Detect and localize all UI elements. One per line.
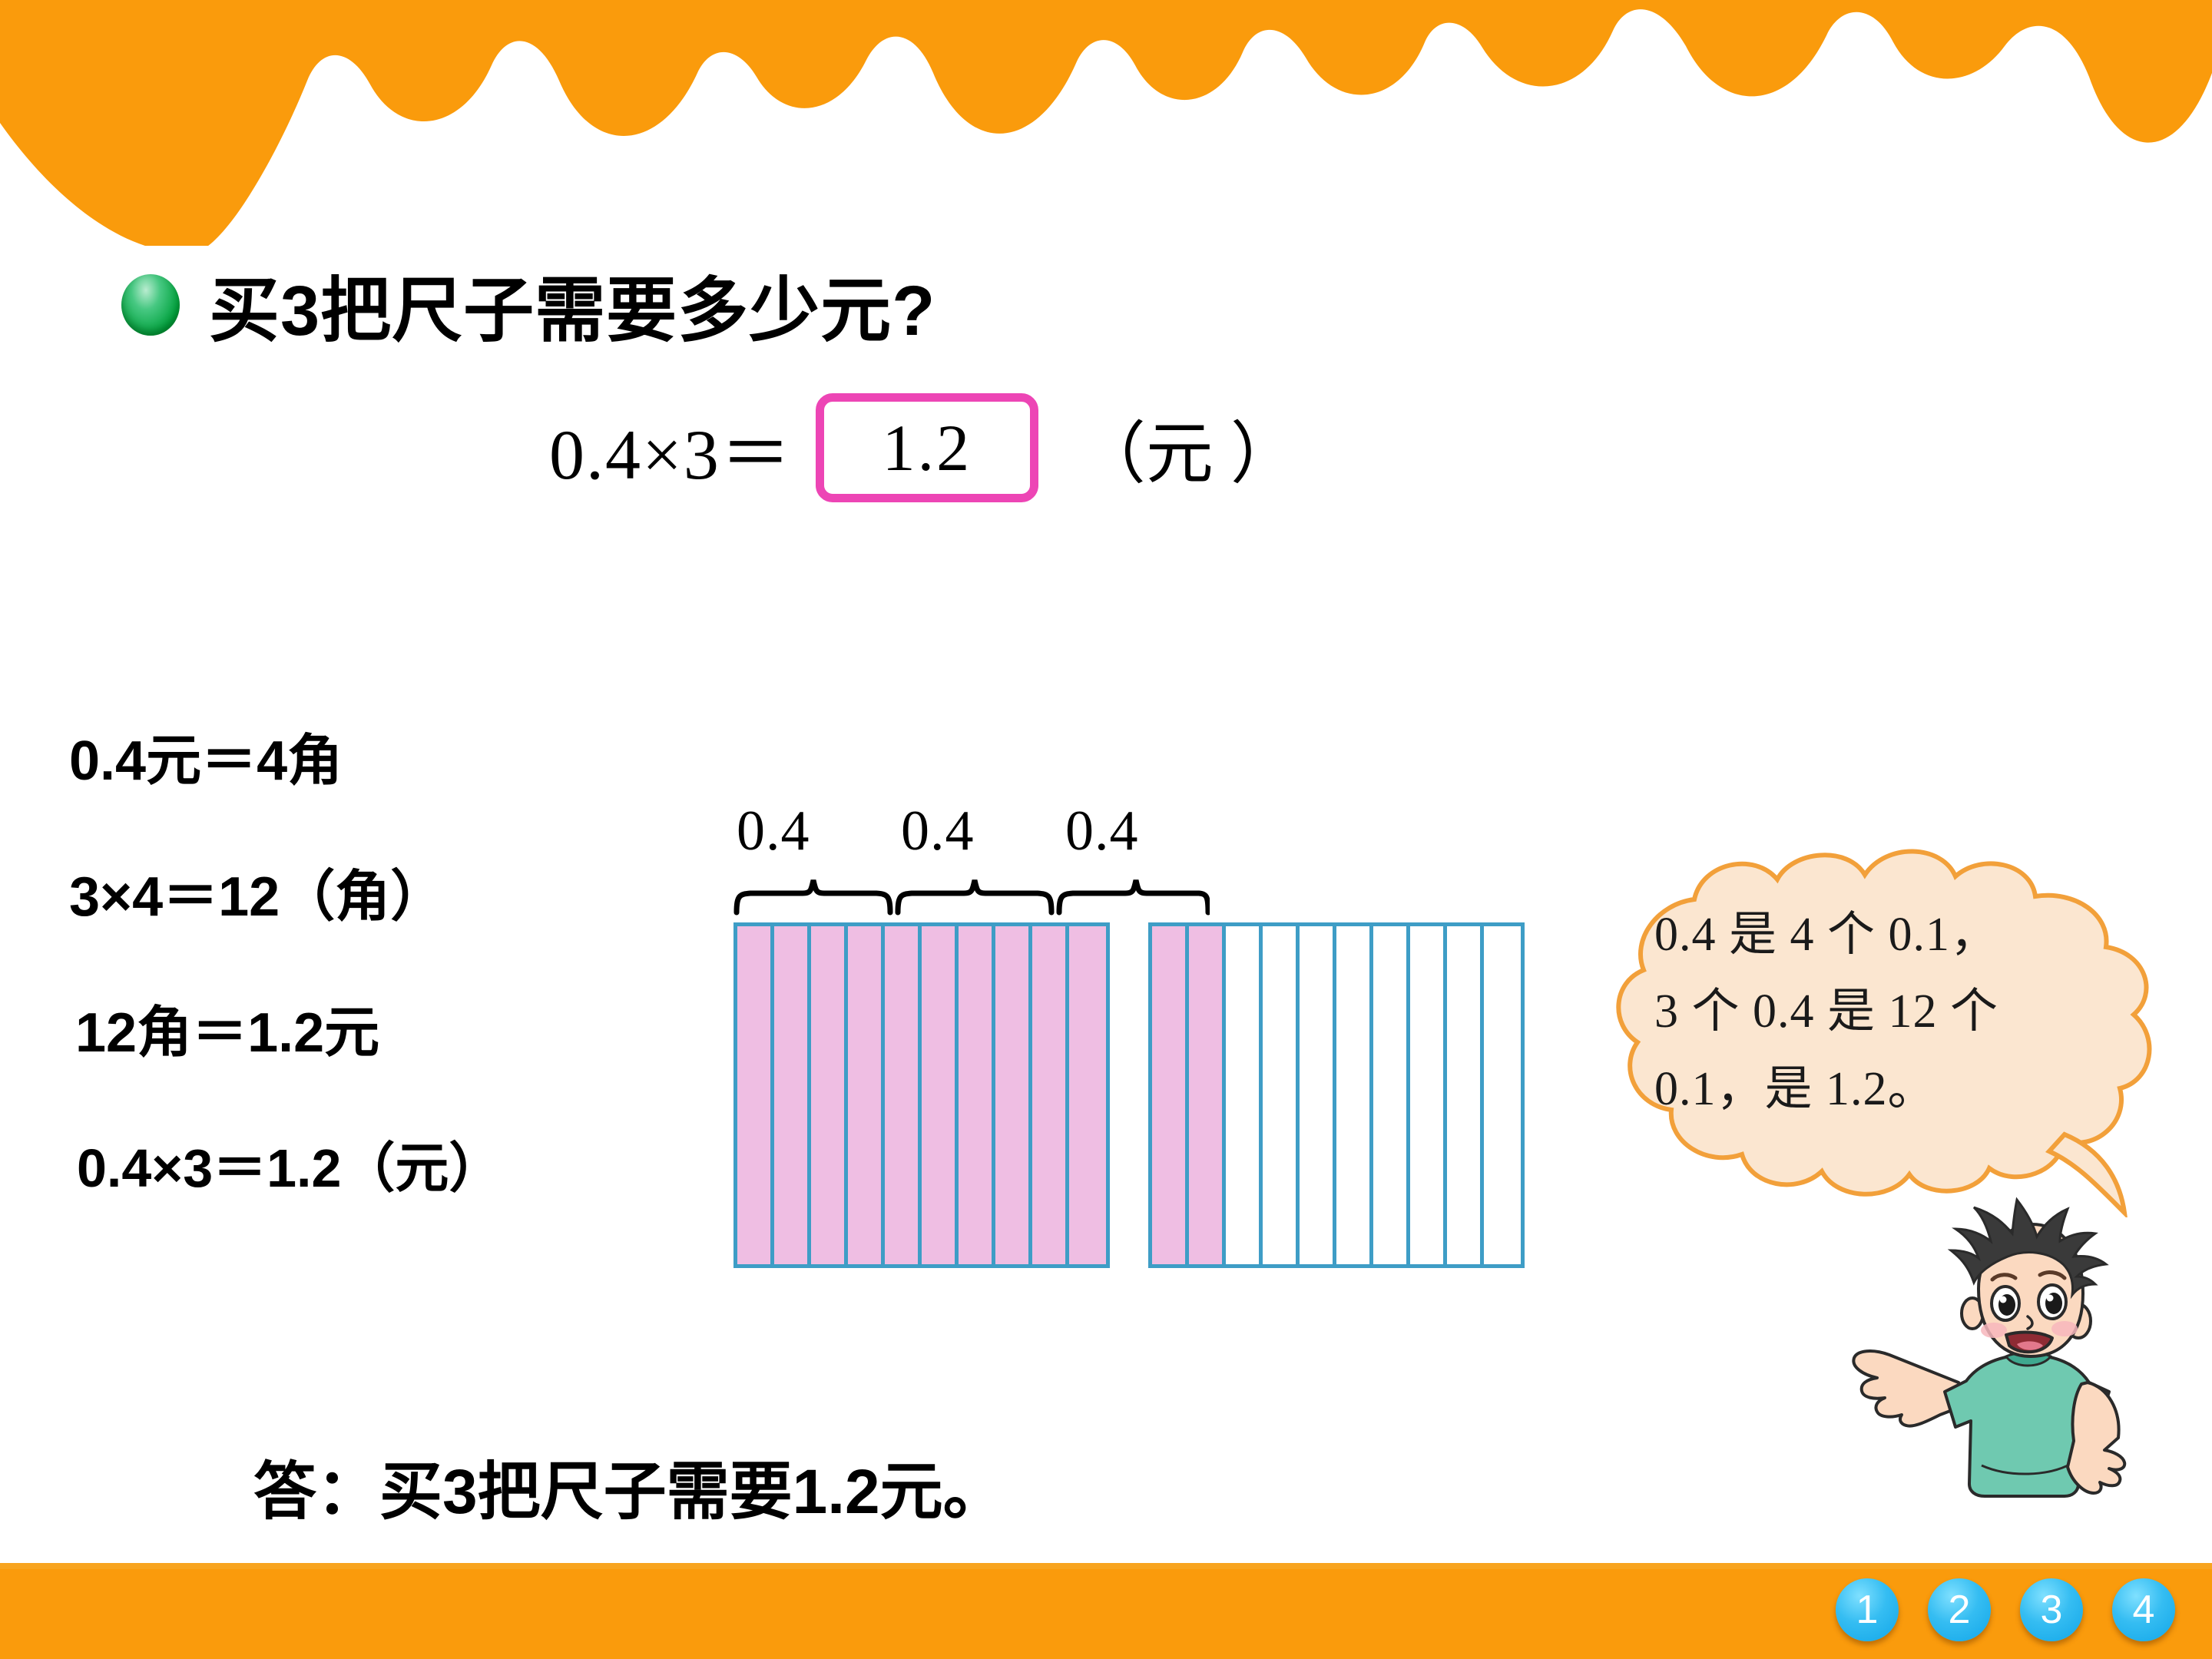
hint-text: 0.4 是 4 个 0.1， 3 个 0.4 是 12 个 0.1，是 1.2。 (1654, 896, 2131, 1128)
brace-2 (898, 880, 1051, 912)
solution-step: 12角＝1.2元 (75, 1005, 714, 1061)
boy-eye-glint-right (2047, 1295, 2054, 1302)
hint-line: 3 个 0.4 是 12 个 (1654, 973, 2131, 1050)
page-nav-button-3[interactable]: 3 (2020, 1578, 2083, 1641)
hint-line: 0.4 是 4 个 0.1， (1654, 896, 2131, 973)
brace-label: 0.4 (901, 799, 975, 864)
strip-cell-filled (885, 926, 922, 1264)
top-decorative-banner (0, 0, 2212, 246)
strip-cell-empty (1263, 926, 1300, 1264)
solution-step: 0.4元＝4角 (69, 733, 714, 789)
equation-left-expression: 0.4×3＝ (549, 397, 793, 499)
strip-cell-filled (811, 926, 848, 1264)
hint-line: 0.1，是 1.2。 (1654, 1051, 2131, 1128)
brace-3 (1059, 880, 1208, 912)
group-braces (733, 868, 1210, 916)
main-equation-row: 0.4×3＝ 1.2 （元 ） (549, 393, 1298, 502)
strip-cell-filled (1189, 926, 1226, 1264)
strip-cell-filled (1152, 926, 1189, 1264)
solution-step: 0.4×3＝1.2（元） (77, 1141, 714, 1195)
strip-cell-filled (737, 926, 774, 1264)
page-nav-button-2[interactable]: 2 (1928, 1578, 1991, 1641)
strip-cell-empty (1373, 926, 1410, 1264)
equation-unit-label: （元 ） (1078, 399, 1298, 497)
strip-cell-filled (848, 926, 885, 1264)
strip-block-2 (1148, 922, 1525, 1268)
strip-cell-filled (774, 926, 811, 1264)
strip-cell-empty (1336, 926, 1373, 1264)
strip-cell-empty (1226, 926, 1263, 1264)
brace-label: 0.4 (737, 799, 810, 864)
strip-cell-empty (1300, 926, 1336, 1264)
page-navigation[interactable]: 1 2 3 4 (1836, 1578, 2175, 1641)
strip-cell-filled (1032, 926, 1069, 1264)
banner-shape (0, 0, 2212, 246)
answer-input-box[interactable]: 1.2 (816, 393, 1038, 502)
page-nav-button-4[interactable]: 4 (2112, 1578, 2175, 1641)
boy-cheek-right (2051, 1321, 2078, 1336)
final-answer-text: 答：买3把尺子需要1.2元。 (253, 1440, 1006, 1532)
decimal-strip-diagram: 0.4 0.4 0.4 (733, 799, 1525, 1268)
page-title: 买3把尺子需要多少元? (209, 253, 935, 356)
green-sphere-bullet-icon (121, 274, 180, 336)
strip-cell-empty (1484, 926, 1521, 1264)
page-nav-button-1[interactable]: 1 (1836, 1578, 1899, 1641)
bottom-bar-highlight (0, 1563, 2212, 1569)
strip-blocks-container (733, 922, 1525, 1268)
boy-cheek-left (1981, 1323, 2007, 1338)
solution-steps-list: 0.4元＝4角 3×4＝12（角） 12角＝1.2元 0.4×3＝1.2（元） (69, 733, 714, 1195)
solution-step: 3×4＝12（角） (69, 869, 714, 925)
brace-label-row: 0.4 0.4 0.4 (733, 799, 1194, 859)
strip-cell-filled (1069, 926, 1106, 1264)
boy-eye-glint-left (2000, 1296, 2007, 1303)
question-title-row: 买3把尺子需要多少元? (121, 253, 935, 356)
strip-block-1 (733, 922, 1110, 1268)
strip-cell-empty (1447, 926, 1484, 1264)
hint-speech-bubble: 0.4 是 4 个 0.1， 3 个 0.4 是 12 个 0.1，是 1.2。 (1604, 849, 2172, 1217)
answer-value: 1.2 (882, 409, 972, 486)
strip-cell-empty (1410, 926, 1447, 1264)
boy-right-arm (2068, 1382, 2124, 1493)
strip-cell-filled (922, 926, 959, 1264)
brace-1 (737, 880, 890, 912)
cartoon-boy-pointing-illustration (1843, 1190, 2212, 1559)
strip-cell-filled (959, 926, 995, 1264)
brace-label: 0.4 (1065, 799, 1139, 864)
strip-cell-filled (995, 926, 1032, 1264)
